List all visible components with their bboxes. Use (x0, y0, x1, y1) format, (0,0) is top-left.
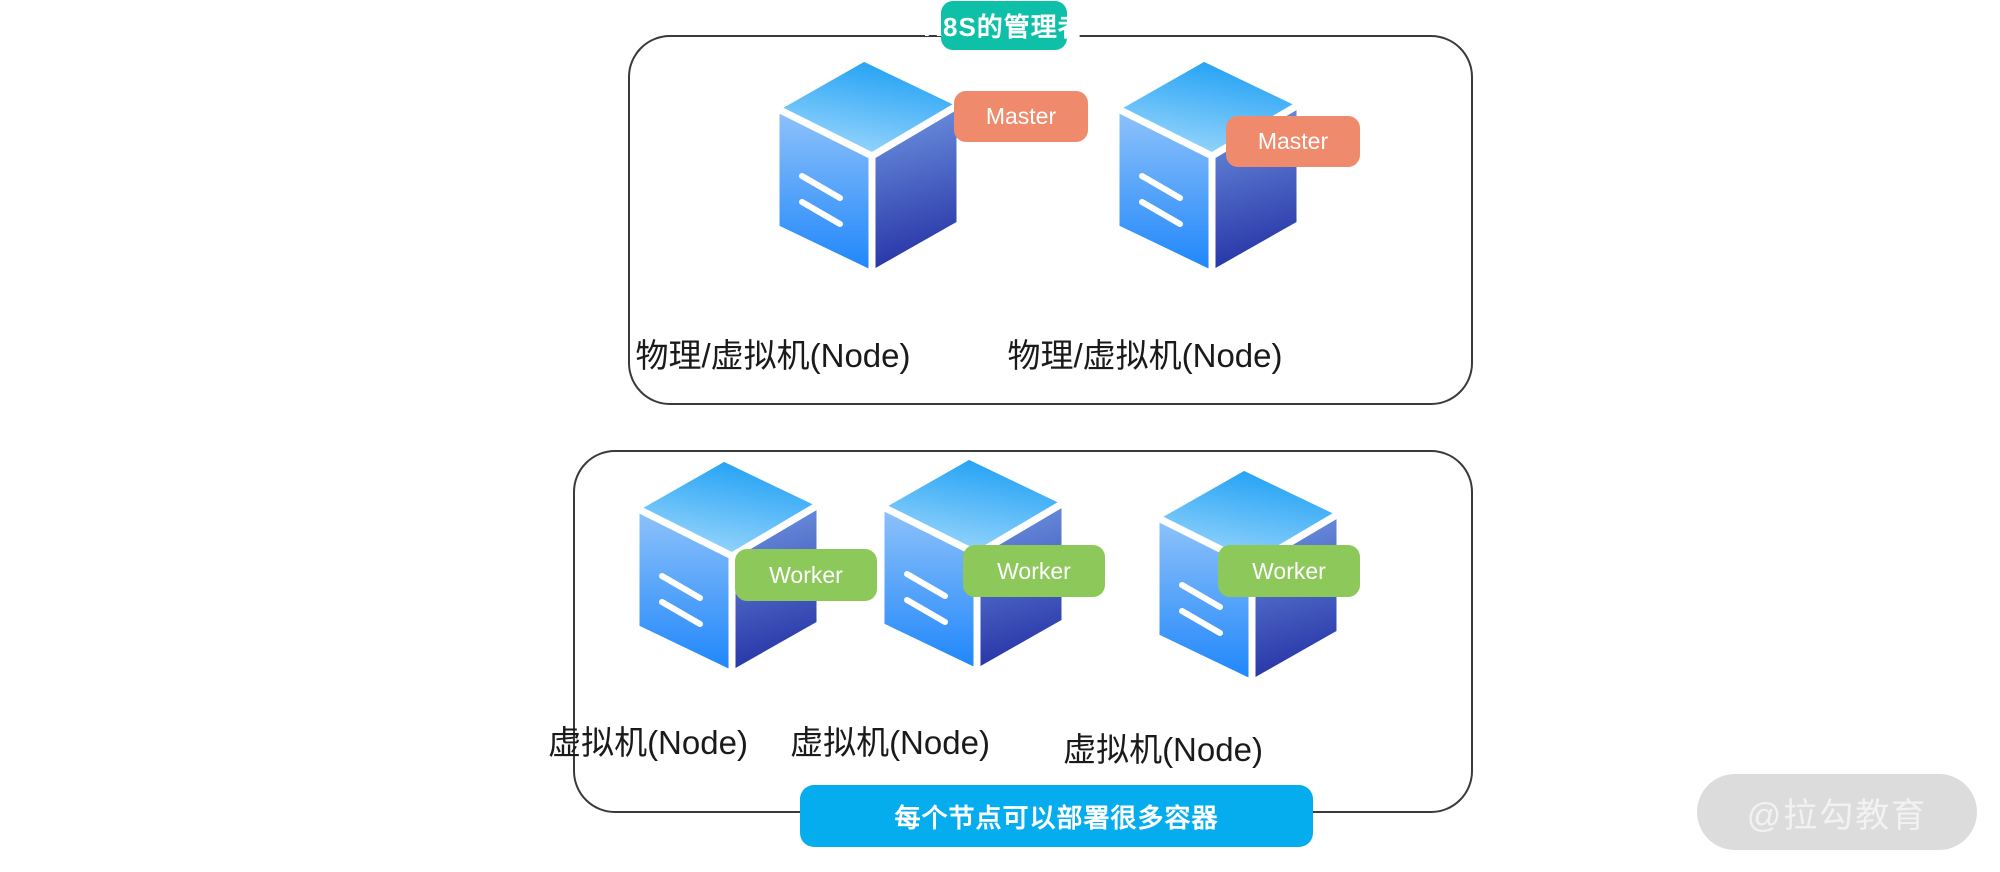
master-group-banner: K8S的管理者 (941, 1, 1067, 50)
server-tower-master-1 (768, 52, 968, 282)
node-caption-worker-1: 虚拟机(Node) (528, 716, 768, 764)
badge-master-1[interactable]: Master (954, 91, 1088, 142)
badge-master-2[interactable]: Master (1226, 116, 1360, 167)
diagram-canvas: Master 物理/虚拟机(Node) Ma (0, 0, 2000, 872)
badge-worker-1[interactable]: Worker (735, 549, 877, 601)
node-caption-master-2: 物理/虚拟机(Node) (1000, 329, 1290, 377)
node-caption-master-1: 物理/虚拟机(Node) (628, 329, 918, 377)
watermark: @拉勾教育 (1697, 774, 1977, 850)
badge-worker-2[interactable]: Worker (963, 545, 1105, 597)
node-caption-worker-3: 虚拟机(Node) (1043, 723, 1283, 771)
server-tower-master-2 (1108, 52, 1308, 282)
worker-group-banner: 每个节点可以部署很多容器 (800, 785, 1313, 847)
node-caption-worker-2: 虚拟机(Node) (770, 716, 1010, 764)
badge-worker-3[interactable]: Worker (1218, 545, 1360, 597)
